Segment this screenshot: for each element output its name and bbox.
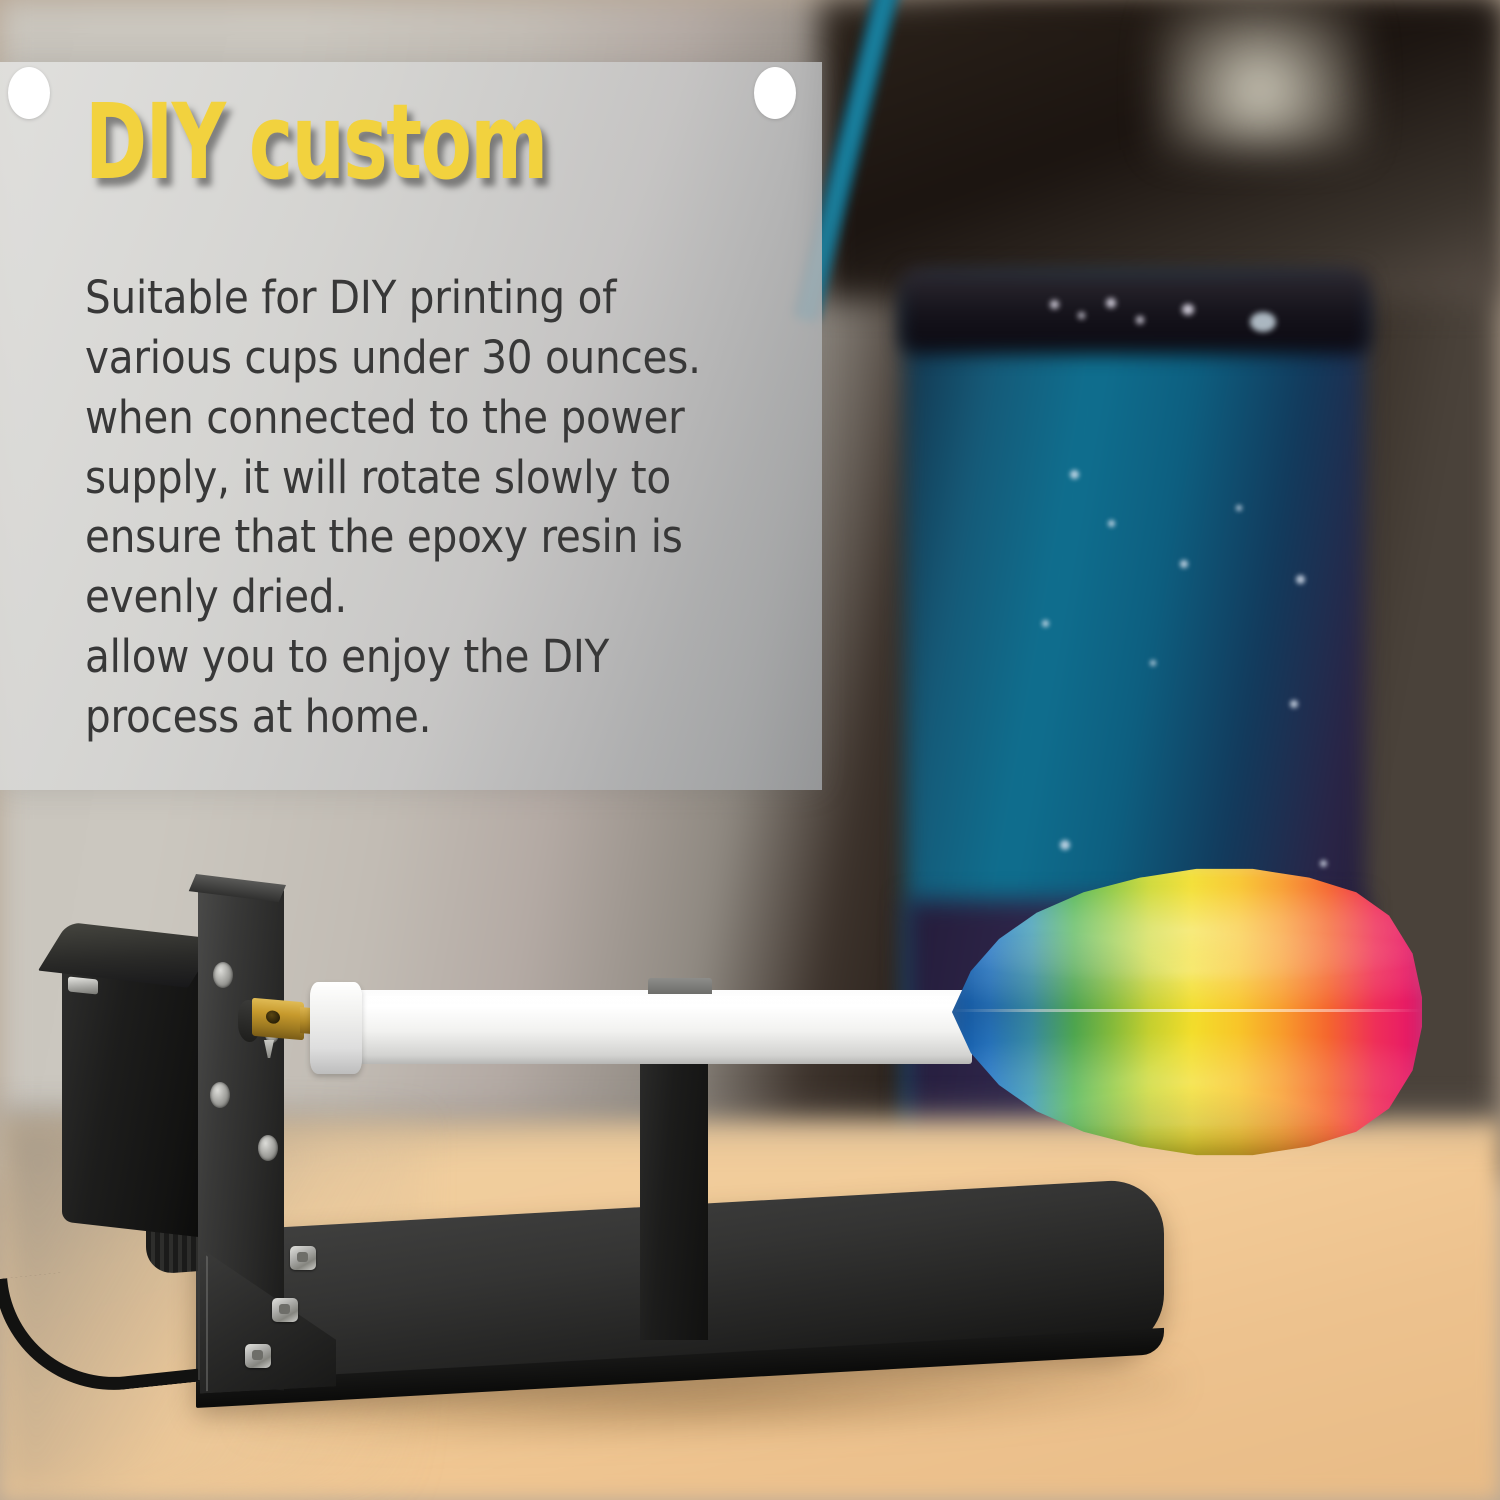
bracket-screw — [213, 962, 233, 988]
motor-bolt — [68, 976, 98, 994]
shaft-flange — [310, 982, 362, 1074]
power-cable — [0, 1257, 219, 1402]
rainbow-rim-shading — [952, 866, 1422, 1158]
product-marketing-image: DIY custom Suitable for DIY printing of … — [0, 0, 1500, 1500]
center-support-post — [640, 1040, 708, 1340]
shaft-highlight — [360, 996, 960, 1010]
rainbow-tumbler-cover — [952, 866, 1422, 1158]
base-hex-bolt — [290, 1246, 316, 1270]
product-photo — [0, 0, 1500, 1500]
base-hex-bolt — [272, 1298, 298, 1322]
bracket-screw — [258, 1135, 278, 1161]
shaft-clip — [648, 978, 712, 994]
base-hex-bolt — [245, 1344, 271, 1368]
brass-shaft-coupler — [252, 998, 304, 1041]
bracket-screw — [210, 1082, 230, 1108]
